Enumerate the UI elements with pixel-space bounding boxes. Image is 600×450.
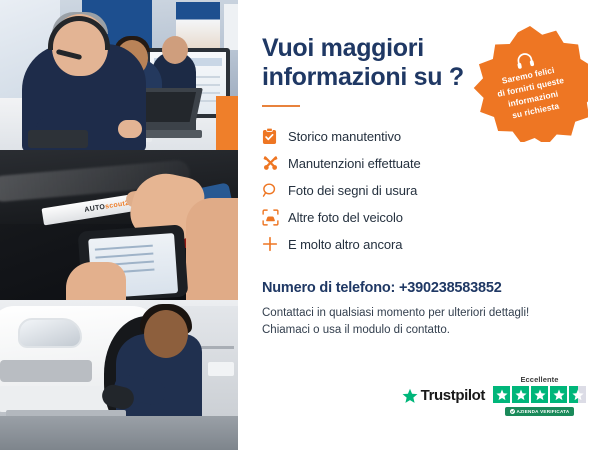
hand-holding-tablet (66, 262, 126, 300)
feature-item-foto-segni-usura: Foto dei segni di usura (262, 177, 578, 204)
star-glyph (515, 389, 527, 401)
feature-list: Storico manutentivo Manutenzioni effettu… (262, 123, 578, 258)
trustpilot-rating: Eccellente AZIENDA VERIFICATA (493, 375, 586, 416)
magnifier-glyph (262, 182, 278, 198)
star-glyph (496, 389, 508, 401)
feature-label: E molto altro ancora (288, 237, 402, 252)
magnifier-icon (262, 182, 288, 198)
contact-subtext-line-2: Chiamaci o usa il modulo di contatto. (262, 322, 578, 340)
phone-line: Numero di telefono: +390238583852 (262, 280, 578, 296)
headline-line-2: informazioni su ? (262, 63, 464, 91)
car-headlight (18, 318, 82, 348)
ruler-brand-text: AUTO (84, 204, 106, 214)
workshop-floor (0, 416, 238, 450)
verified-business-badge: AZIENDA VERIFICATA (505, 407, 575, 416)
phone-label: Numero di telefono: (262, 280, 399, 296)
callout-badge: Saremo felici di fornirti queste informa… (472, 26, 588, 142)
feature-label: Altre foto del veicolo (288, 210, 403, 225)
verified-check-icon (510, 409, 515, 414)
headline-divider (262, 105, 300, 107)
clipboard-check-glyph (262, 128, 277, 145)
orange-equipment (216, 96, 238, 150)
star-glyph (553, 389, 565, 401)
wrench-screwdriver-glyph (262, 155, 279, 172)
inspector-forearm (186, 198, 238, 300)
clipboard-check-icon (262, 128, 288, 145)
feature-label: Storico manutentivo (288, 129, 401, 144)
plus-glyph (262, 236, 278, 252)
verified-label: AZIENDA VERIFICATA (517, 409, 570, 414)
phone-number[interactable]: +390238583852 (399, 280, 502, 296)
feature-item-molto-altro: E molto altro ancora (262, 231, 578, 258)
mechanic-head (144, 310, 188, 358)
desk-tablet (28, 130, 88, 148)
star-5-partial (569, 386, 586, 403)
star-glyph (572, 389, 584, 401)
trustpilot-star-icon (402, 388, 418, 404)
content-panel: Vuoi maggiori informazioni su ? Saremo f… (238, 0, 600, 450)
photo-column: AUTOscout24 (0, 0, 238, 450)
trustpilot-stars (493, 386, 586, 403)
page-title: Vuoi maggiori informazioni su ? (262, 34, 482, 93)
contact-subtext-line-1: Contattaci in qualsiasi momento per ulte… (262, 305, 578, 323)
tools-crossed-icon (262, 155, 288, 172)
feature-item-altre-foto-veicolo: Altre foto del veicolo (262, 204, 578, 231)
uniform-logo-patch (208, 362, 234, 376)
contact-subtext: Contattaci in qualsiasi momento per ulte… (262, 305, 578, 341)
star-1 (493, 386, 510, 403)
star-glyph (534, 389, 546, 401)
star-4 (550, 386, 567, 403)
headline-line-1: Vuoi maggiori (262, 34, 424, 62)
trustpilot-rating-word: Eccellente (520, 375, 558, 384)
scan-frame-car-glyph (262, 209, 279, 226)
star-2 (512, 386, 529, 403)
headset-icon (513, 49, 536, 71)
photo-vehicle-bumper-inspection-with-tablet: AUTOscout24 (0, 150, 238, 300)
background-agent-2-head (162, 36, 188, 64)
wall-poster-2 (224, 4, 238, 50)
scan-car-icon (262, 209, 288, 226)
photo-mechanic-inspecting-wheel-on-lift (0, 300, 238, 450)
foreground-agent-hand (118, 120, 142, 138)
trustpilot-widget[interactable]: Trustpilot Eccellente AZIENDA VERIFICATA (402, 375, 586, 416)
feature-label: Manutenzioni effettuate (288, 156, 421, 171)
feature-item-manutenzioni-effettuate: Manutenzioni effettuate (262, 150, 578, 177)
car-grille (0, 360, 92, 382)
feature-label: Foto dei segni di usura (288, 183, 417, 198)
trustpilot-name: Trustpilot (421, 387, 485, 404)
trustpilot-brand: Trustpilot (402, 387, 485, 404)
promo-banner: AUTOscout24 (0, 0, 600, 450)
photo-call-center-agents-with-headsets (0, 0, 238, 150)
plus-icon (262, 236, 288, 252)
star-3 (531, 386, 548, 403)
contact-block: Numero di telefono: +390238583852 Contat… (262, 280, 578, 341)
